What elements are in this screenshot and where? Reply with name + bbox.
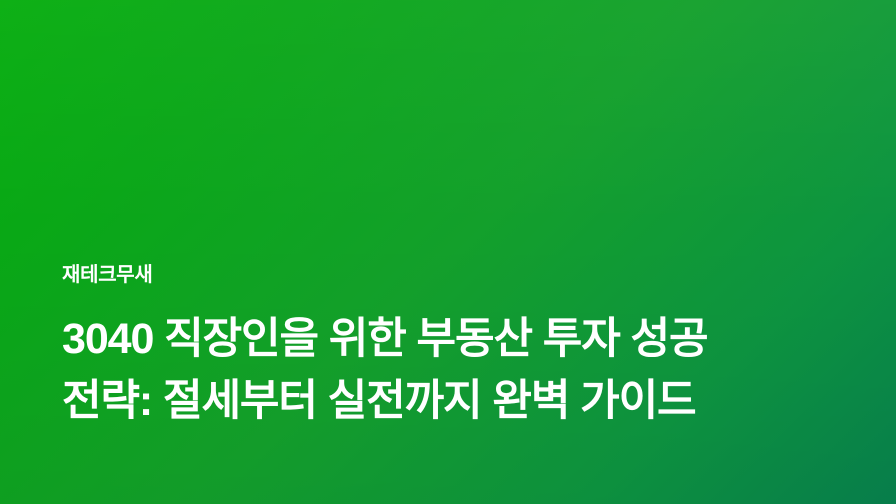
- blog-name-label: 재테크무새: [62, 264, 834, 286]
- post-title-line-2: 전략: 절세부터 실전까지 완벽 가이드: [62, 370, 834, 432]
- post-title-line-1: 3040 직장인을 위한 부동산 투자 성공: [62, 308, 834, 370]
- article-thumbnail-card: 재테크무새 3040 직장인을 위한 부동산 투자 성공 전략: 절세부터 실전…: [0, 0, 896, 504]
- post-title: 3040 직장인을 위한 부동산 투자 성공 전략: 절세부터 실전까지 완벽 …: [62, 308, 834, 432]
- thumbnail-text-block: 재테크무새 3040 직장인을 위한 부동산 투자 성공 전략: 절세부터 실전…: [62, 264, 834, 432]
